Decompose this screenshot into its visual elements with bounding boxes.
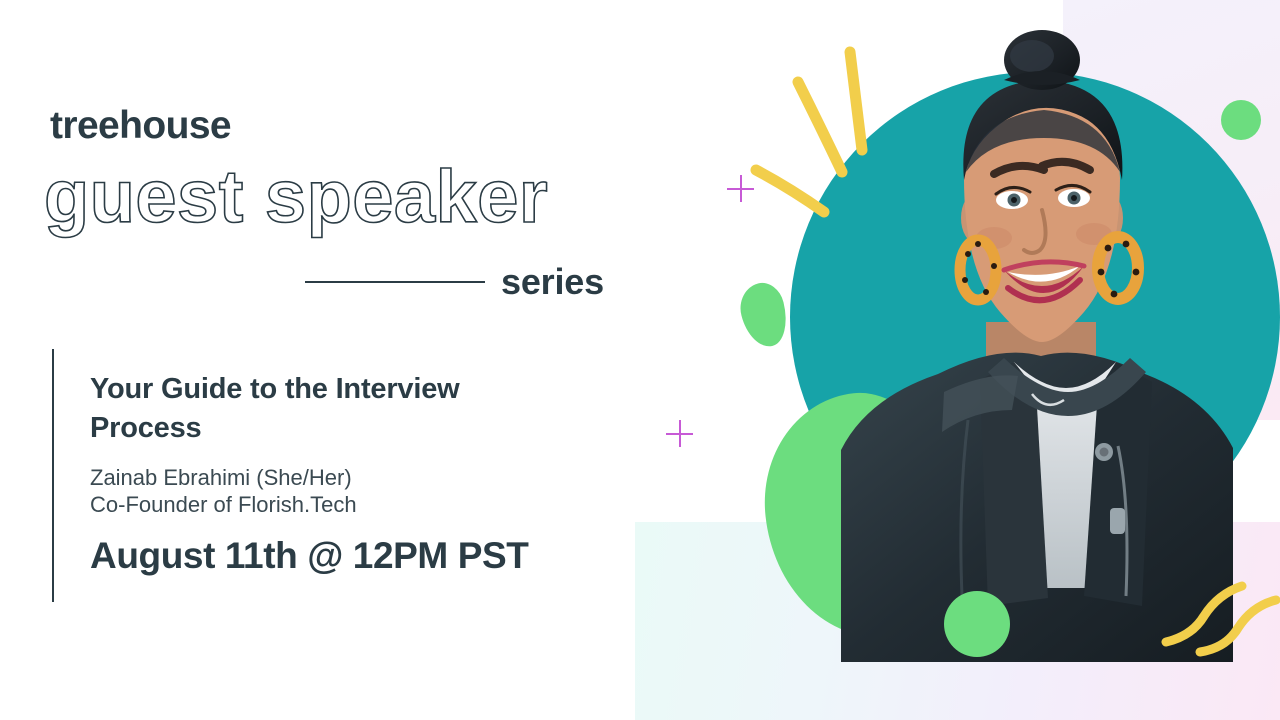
series-divider-rule	[305, 281, 485, 283]
talk-title: Your Guide to the Interview Process	[90, 370, 560, 449]
plus-mark-middle	[666, 420, 693, 447]
green-circle-bottom	[944, 591, 1010, 657]
plus-mark-top	[727, 175, 754, 202]
speaker-role: Co-Founder of Florish.Tech	[90, 488, 357, 521]
yellow-wave-strokes	[1160, 570, 1280, 680]
yellow-burst-strokes	[740, 30, 920, 220]
series-label: series	[501, 262, 604, 302]
event-datetime: August 11th @ 12PM PST	[90, 534, 528, 578]
guest-speaker-headline: guest speaker	[44, 160, 548, 234]
guest-speaker-promo-graphic: treehouse guest speaker series Your Guid…	[0, 0, 1280, 720]
green-blob-small	[735, 279, 793, 352]
treehouse-wordmark: treehouse	[50, 106, 231, 145]
vertical-accent-rule	[52, 349, 54, 602]
series-row: series	[305, 262, 625, 304]
